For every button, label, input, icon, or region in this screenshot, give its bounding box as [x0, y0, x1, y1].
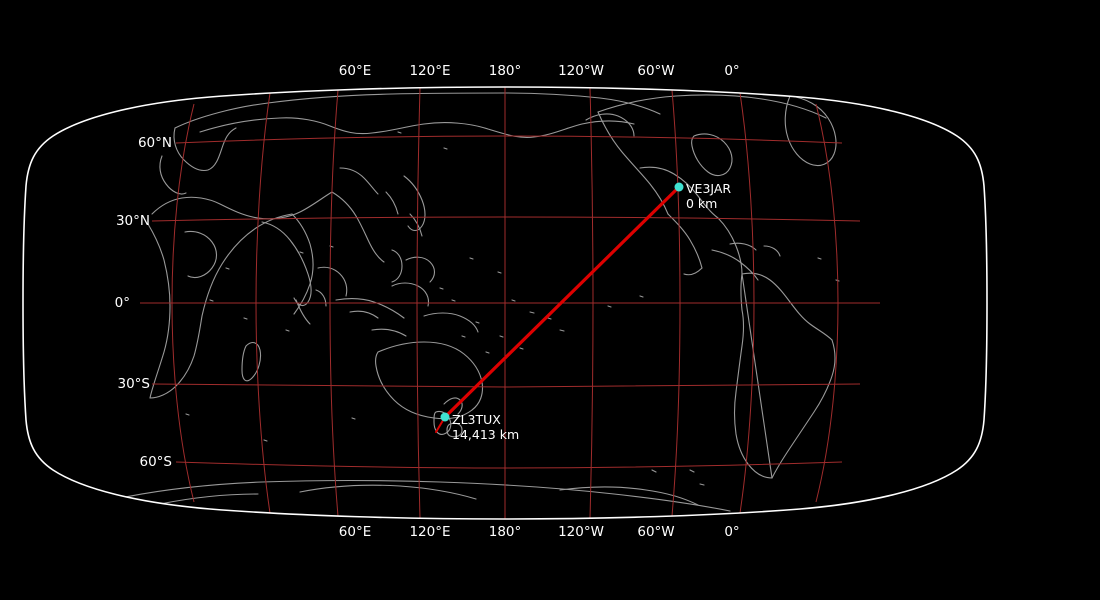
map-figure: Robinson Projection FN03 to RE66HO (244°… [0, 0, 1100, 600]
station-distance-ve3jar: 0 km [686, 197, 731, 212]
lon-tick-bottom-5: 0° [724, 524, 739, 540]
lat-tick-1: 30°N [88, 213, 150, 229]
lon-tick-bottom-4: 60°W [637, 524, 674, 540]
station-label-zl3tux: ZL3TUX 14,413 km [452, 413, 519, 443]
lon-tick-bottom-1: 120°E [409, 524, 450, 540]
lon-tick-bottom-3: 120°W [558, 524, 604, 540]
lat-tick-0: 60°N [110, 135, 172, 151]
station-label-ve3jar: VE3JAR 0 km [686, 182, 731, 212]
station-callsign-ve3jar: VE3JAR [686, 182, 731, 197]
lon-tick-bottom-0: 60°E [339, 524, 371, 540]
lon-tick-top-0: 60°E [339, 63, 371, 79]
station-marker-zl3tux[interactable] [441, 413, 450, 422]
station-callsign-zl3tux: ZL3TUX [452, 413, 519, 428]
lat-tick-2: 0° [68, 295, 130, 311]
lon-tick-bottom-2: 180° [489, 524, 522, 540]
station-marker-ve3jar[interactable] [675, 183, 684, 192]
robinson-map [0, 0, 1100, 600]
lon-tick-top-4: 60°W [637, 63, 674, 79]
lat-tick-4: 60°S [110, 454, 172, 470]
lon-tick-top-1: 120°E [409, 63, 450, 79]
lon-tick-top-3: 120°W [558, 63, 604, 79]
station-distance-zl3tux: 14,413 km [452, 428, 519, 443]
map-background [0, 0, 1100, 600]
lon-tick-top-2: 180° [489, 63, 522, 79]
lat-tick-3: 30°S [88, 376, 150, 392]
lon-tick-top-5: 0° [724, 63, 739, 79]
